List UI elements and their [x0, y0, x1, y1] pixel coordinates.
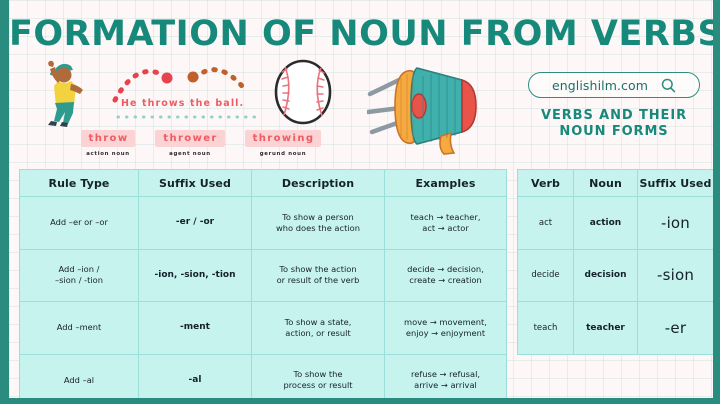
word-pill-label: thrower	[155, 130, 224, 147]
desc-line-2: action, or result	[285, 328, 350, 338]
example-line-1: refuse → refusal,	[411, 369, 480, 379]
subheading-line-2: NOUN FORMS	[559, 124, 668, 139]
word-pill-2: throwing gerund noun	[235, 128, 331, 157]
cell-examples: teach → teacher, act → actor	[385, 197, 507, 250]
word-pill-1: thrower agent noun	[147, 128, 233, 157]
cell-suffix: -ion, -sion, -tion	[139, 249, 252, 302]
baseball-icon	[271, 58, 335, 126]
word-pill-label: throwing	[245, 130, 322, 147]
cell-description: To show the process or result	[252, 354, 385, 404]
table-row: Add –ment -ment To show a state, action,…	[20, 302, 507, 355]
cell-description: To show the action or result of the verb	[252, 249, 385, 302]
website-search-pill[interactable]: englishilm.com	[528, 72, 700, 98]
word-pill-sub: agent noun	[147, 151, 233, 157]
example-line-2: enjoy → enjoyment	[406, 328, 485, 338]
search-icon[interactable]	[661, 78, 676, 93]
website-url-label: englishilm.com	[552, 78, 648, 93]
column-header-suffix-used: Suffix Used	[139, 170, 252, 197]
megaphone-icon	[367, 56, 497, 156]
cell-rule: Add –al	[20, 354, 139, 404]
table-row: act action -ion	[518, 197, 714, 250]
column-header-rule-type: Rule Type	[20, 170, 139, 197]
cell-verb: teach	[518, 302, 574, 355]
example-line-2: arrive → arrival	[414, 380, 477, 390]
desc-line-2: who does the action	[276, 223, 360, 233]
desc-line-1: To show a person	[282, 212, 354, 222]
cell-description: To show a state, action, or result	[252, 302, 385, 355]
word-forms-pill-group: throw action noun thrower agent noun thr…	[71, 128, 331, 168]
desc-line-2: or result of the verb	[277, 275, 360, 285]
cell-suffix: -sion	[638, 249, 714, 302]
table-row: Add –er or –or -er / -or To show a perso…	[20, 197, 507, 250]
example-line-1: decide → decision,	[407, 264, 484, 274]
word-pill-label: throw	[81, 130, 136, 147]
cell-suffix: -al	[139, 354, 252, 404]
cell-rule: Add –ion / –sion / -tion	[20, 249, 139, 302]
table-header-row: Rule Type Suffix Used Description Exampl…	[20, 170, 507, 197]
column-header-description: Description	[252, 170, 385, 197]
infographic-poster: FORMATION OF NOUN FROM VERBS He throws t…	[0, 0, 720, 404]
cell-examples: refuse → refusal, arrive → arrival	[385, 354, 507, 404]
rules-table: Rule Type Suffix Used Description Exampl…	[19, 169, 507, 404]
table-row: Add –ion / –sion / -tion -ion, -sion, -t…	[20, 249, 507, 302]
cell-examples: move → movement, enjoy → enjoyment	[385, 302, 507, 355]
column-header-noun: Noun	[574, 170, 638, 197]
cell-description: To show a person who does the action	[252, 197, 385, 250]
page-title: FORMATION OF NOUN FROM VERBS	[9, 14, 713, 54]
cell-suffix: -ment	[139, 302, 252, 355]
cell-rule: Add –ment	[20, 302, 139, 355]
column-header-suffix-used: Suffix Used	[638, 170, 714, 197]
subheading-line-1: VERBS AND THEIR	[541, 108, 687, 123]
desc-line-1: To show the action	[279, 264, 356, 274]
column-header-verb: Verb	[518, 170, 574, 197]
example-line-1: teach → teacher,	[411, 212, 481, 222]
example-line-1: move → movement,	[404, 317, 487, 327]
desc-line-1: To show a state,	[285, 317, 352, 327]
hero-sentence: He throws the ball.	[121, 98, 244, 109]
cell-noun: action	[574, 197, 638, 250]
table-row: decide decision -sion	[518, 249, 714, 302]
cell-verb: decide	[518, 249, 574, 302]
boy-throwing-icon	[34, 58, 94, 130]
cell-noun: decision	[574, 249, 638, 302]
column-header-examples: Examples	[385, 170, 507, 197]
rule-line-1: Add –ion /	[59, 264, 100, 274]
table-header-row: Verb Noun Suffix Used	[518, 170, 714, 197]
verbs-nouns-table: Verb Noun Suffix Used act action -ion de…	[517, 169, 714, 355]
cell-suffix: -ion	[638, 197, 714, 250]
word-pill-sub: action noun	[71, 151, 145, 157]
dotted-underline-icon	[116, 114, 264, 120]
word-pill-sub: gerund noun	[235, 151, 331, 157]
example-line-2: create → creation	[409, 275, 481, 285]
cell-suffix: -er	[638, 302, 714, 355]
desc-line-1: To show the	[293, 369, 342, 379]
table-row: Add –al -al To show the process or resul…	[20, 354, 507, 404]
cell-verb: act	[518, 197, 574, 250]
example-line-2: act → actor	[422, 223, 469, 233]
cell-noun: teacher	[574, 302, 638, 355]
desc-line-2: process or result	[283, 380, 352, 390]
cell-suffix: -er / -or	[139, 197, 252, 250]
hero-illustration-area: He throws the ball. throw action noun th…	[9, 56, 713, 168]
subheading: VERBS AND THEIR NOUN FORMS	[514, 108, 714, 140]
cell-examples: decide → decision, create → creation	[385, 249, 507, 302]
rule-line-2: –sion / -tion	[55, 275, 103, 285]
word-pill-0: throw action noun	[71, 128, 145, 157]
table-row: teach teacher -er	[518, 302, 714, 355]
cell-rule: Add –er or –or	[20, 197, 139, 250]
